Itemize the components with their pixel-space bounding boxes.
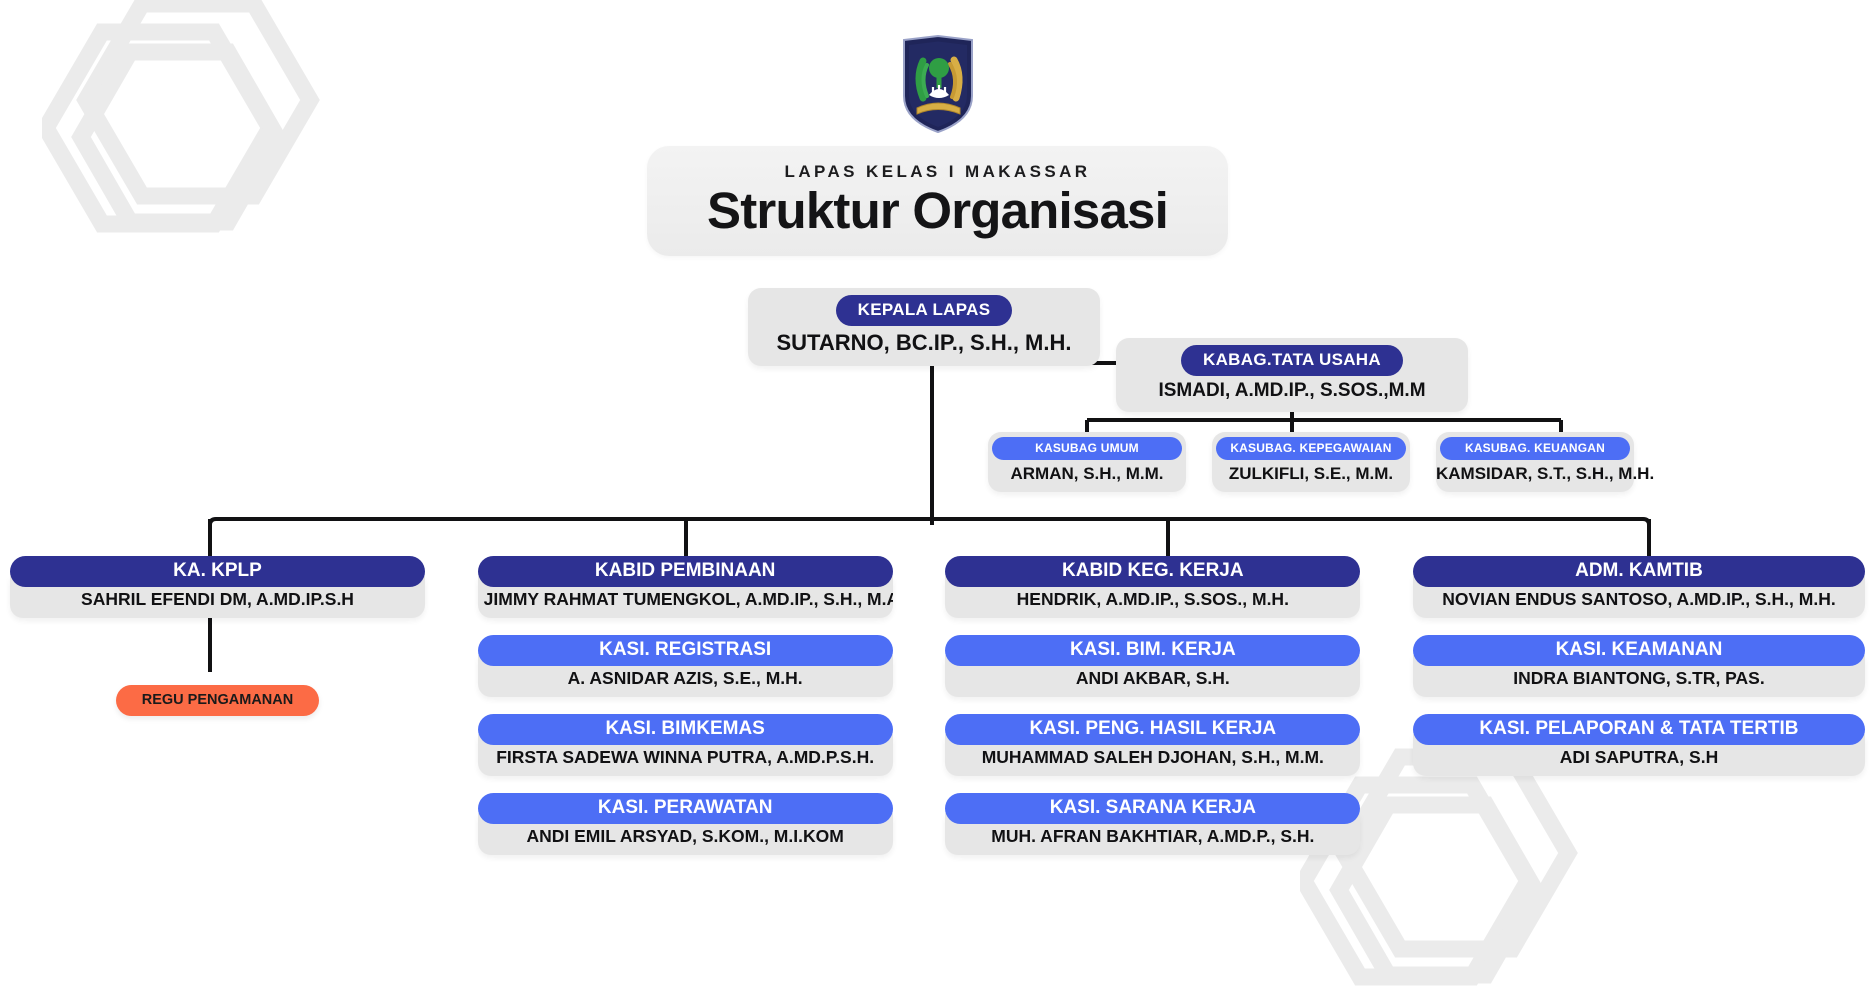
node-title-kepala-lapas: KEPALA LAPAS (836, 295, 1013, 326)
node-title-ka-kplp: KA. KPLP (10, 556, 425, 587)
node-title-kasi-bimkemas: KASI. BIMKEMAS (478, 714, 893, 745)
node-title-kasubag-kepegawaian: KASUBAG. KEPEGAWAIAN (1216, 437, 1406, 460)
column-kabid-pembinaan: KABID PEMBINAAN JIMMY RAHMAT TUMENGKOL, … (478, 556, 893, 872)
node-name-kasubag-kepegawaian: ZULKIFLI, S.E., M.M. (1212, 464, 1410, 484)
node-title-kasi-sarana-kerja: KASI. SARANA KERJA (945, 793, 1360, 824)
node-kasubag-kepegawaian[interactable]: KASUBAG. KEPEGAWAIAN ZULKIFLI, S.E., M.M… (1212, 432, 1410, 492)
node-title-kasi-registrasi: KASI. REGISTRASI (478, 635, 893, 666)
node-title-kasubag-umum: KASUBAG UMUM (992, 437, 1182, 460)
node-kabag-tata-usaha[interactable]: KABAG.TATA USAHA ISMADI, A.MD.IP., S.SOS… (1116, 338, 1468, 412)
title-kicker: LAPAS KELAS I MAKASSAR (707, 162, 1168, 182)
node-title-kasubag-keuangan: KASUBAG. KEUANGAN (1440, 437, 1630, 460)
node-kasi-registrasi[interactable]: KASI. REGISTRASI A. ASNIDAR AZIS, S.E., … (478, 635, 893, 697)
node-title-kabid-pembinaan: KABID PEMBINAAN (478, 556, 893, 587)
node-ka-kplp[interactable]: KA. KPLP SAHRIL EFENDI DM, A.MD.IP.S.H (10, 556, 425, 618)
node-title-kasi-perawatan: KASI. PERAWATAN (478, 793, 893, 824)
node-kasubag-umum[interactable]: KASUBAG UMUM ARMAN, S.H., M.M. (988, 432, 1186, 492)
node-kepala-lapas[interactable]: KEPALA LAPAS SUTARNO, BC.IP., S.H., M.H. (748, 288, 1100, 366)
node-kabid-pembinaan[interactable]: KABID PEMBINAAN JIMMY RAHMAT TUMENGKOL, … (478, 556, 893, 618)
node-adm-kamtib[interactable]: ADM. KAMTIB NOVIAN ENDUS SANTOSO, A.MD.I… (1413, 556, 1865, 618)
node-kasi-perawatan[interactable]: KASI. PERAWATAN ANDI EMIL ARSYAD, S.KOM.… (478, 793, 893, 855)
node-kasubag-keuangan[interactable]: KASUBAG. KEUANGAN KAMSIDAR, S.T., S.H., … (1436, 432, 1634, 492)
node-title-kasi-pelaporan-tata-tertib: KASI. PELAPORAN & TATA TERTIB (1413, 714, 1865, 745)
node-kasi-bim-kerja[interactable]: KASI. BIM. KERJA ANDI AKBAR, S.H. (945, 635, 1360, 697)
node-kasi-bimkemas[interactable]: KASI. BIMKEMAS FIRSTA SADEWA WINNA PUTRA… (478, 714, 893, 776)
node-title-kasi-peng-hasil-kerja: KASI. PENG. HASIL KERJA (945, 714, 1360, 745)
page-header: LAPAS KELAS I MAKASSAR Struktur Organisa… (0, 34, 1875, 256)
page-title: Struktur Organisasi (707, 184, 1168, 238)
org-columns: KA. KPLP SAHRIL EFENDI DM, A.MD.IP.S.H R… (0, 556, 1875, 872)
column-adm-kamtib: ADM. KAMTIB NOVIAN ENDUS SANTOSO, A.MD.I… (1413, 556, 1865, 872)
node-name-kasubag-umum: ARMAN, S.H., M.M. (988, 464, 1186, 484)
node-kasi-sarana-kerja[interactable]: KASI. SARANA KERJA MUH. AFRAN BAKHTIAR, … (945, 793, 1360, 855)
node-kasi-pelaporan-tata-tertib[interactable]: KASI. PELAPORAN & TATA TERTIB ADI SAPUTR… (1413, 714, 1865, 776)
column-ka-kplp: KA. KPLP SAHRIL EFENDI DM, A.MD.IP.S.H R… (10, 556, 425, 872)
node-name-kasubag-keuangan: KAMSIDAR, S.T., S.H., M.H. (1436, 464, 1634, 484)
node-title-kasi-bim-kerja: KASI. BIM. KERJA (945, 635, 1360, 666)
node-title-kabag-tata-usaha: KABAG.TATA USAHA (1181, 345, 1403, 376)
node-kabid-keg-kerja[interactable]: KABID KEG. KERJA HENDRIK, A.MD.IP., S.SO… (945, 556, 1360, 618)
kasubag-row: KASUBAG UMUM ARMAN, S.H., M.M. KASUBAG. … (988, 432, 1634, 492)
node-name-kabag-tata-usaha: ISMADI, A.MD.IP., S.SOS.,M.M (1116, 380, 1468, 402)
node-title-adm-kamtib: ADM. KAMTIB (1413, 556, 1865, 587)
node-kasi-peng-hasil-kerja[interactable]: KASI. PENG. HASIL KERJA MUHAMMAD SALEH D… (945, 714, 1360, 776)
node-title-kabid-keg-kerja: KABID KEG. KERJA (945, 556, 1360, 587)
title-plate: LAPAS KELAS I MAKASSAR Struktur Organisa… (647, 146, 1228, 256)
column-kabid-keg-kerja: KABID KEG. KERJA HENDRIK, A.MD.IP., S.SO… (945, 556, 1360, 872)
node-kasi-keamanan[interactable]: KASI. KEAMANAN INDRA BIANTONG, S.TR, PAS… (1413, 635, 1865, 697)
node-regu-pengamanan[interactable]: REGU PENGAMANAN (116, 685, 319, 716)
node-title-kasi-keamanan: KASI. KEAMANAN (1413, 635, 1865, 666)
kemenkumham-shield-crest-icon (899, 34, 977, 134)
node-name-kepala-lapas: SUTARNO, BC.IP., S.H., M.H. (748, 330, 1100, 356)
